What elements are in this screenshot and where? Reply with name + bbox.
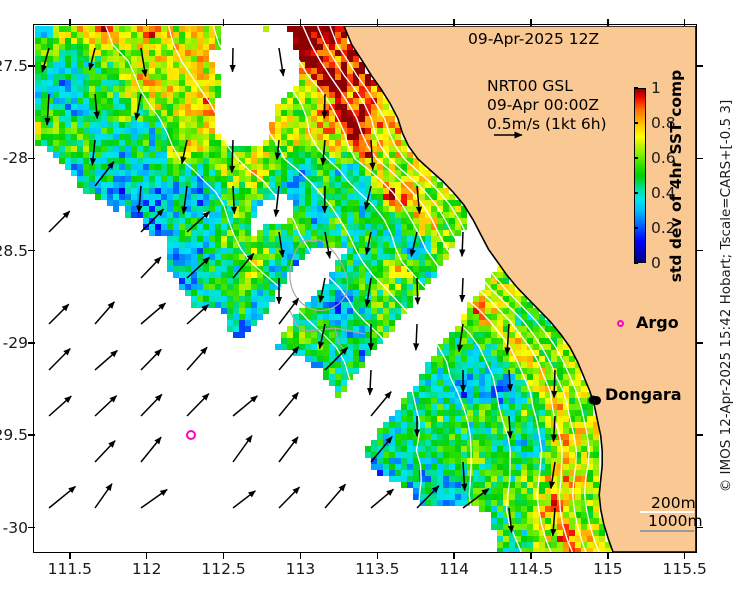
- y-tick-right-2: [696, 250, 703, 252]
- x-tick-1: [146, 552, 148, 559]
- colorbar-tick-label-0: 1: [651, 79, 661, 97]
- x-tick-2: [223, 552, 225, 559]
- x-tick-label-4: 113.5: [355, 560, 399, 578]
- y-tick-right-4: [696, 434, 703, 436]
- x-tick-top-6: [530, 19, 532, 26]
- x-tick-top-3: [300, 19, 302, 26]
- y-tick-3: [28, 342, 35, 344]
- y-tick-right-3: [696, 342, 703, 344]
- velocity-scale-arrow-icon: [492, 126, 532, 144]
- dongara-marker-icon: [592, 396, 601, 405]
- dongara-label: Dongara: [605, 385, 682, 404]
- x-tick-6: [530, 552, 532, 559]
- y-tick-2: [28, 250, 35, 252]
- x-tick-0: [69, 552, 71, 559]
- title-date-label: 09-Apr-2025 12Z: [468, 30, 599, 48]
- x-tick-top-4: [377, 19, 379, 26]
- x-tick-label-3: 113: [286, 560, 316, 578]
- x-tick-8: [684, 552, 686, 559]
- depth-1000m-line-sample: [640, 530, 694, 532]
- colorbar-tick-label-5: 0: [651, 254, 661, 272]
- colorbar-tick-5: [634, 262, 638, 264]
- colorbar-tick-3: [634, 192, 638, 194]
- y-tick-label-5: -30: [3, 519, 28, 537]
- argo-marker-icon: [617, 320, 624, 327]
- x-tick-top-2: [223, 19, 225, 26]
- x-tick-label-6: 114.5: [509, 560, 553, 578]
- colorbar-title: std dev of 4hr SST comp: [667, 70, 685, 283]
- y-tick-right-0: [696, 65, 703, 67]
- x-tick-label-0: 111.5: [48, 560, 92, 578]
- figure-canvas: 111.5112112.5113113.5114114.5115115.5 -2…: [0, 0, 740, 592]
- colorbar: [634, 88, 646, 263]
- x-tick-label-7: 115: [593, 560, 623, 578]
- y-tick-label-2: -28.5: [0, 242, 28, 260]
- depth-200m-label: 200m: [651, 494, 696, 512]
- y-tick-1: [28, 158, 35, 160]
- y-tick-5: [28, 527, 35, 529]
- x-tick-label-2: 112.5: [201, 560, 245, 578]
- x-tick-5: [453, 552, 455, 559]
- x-tick-label-8: 115.5: [663, 560, 707, 578]
- y-tick-0: [28, 65, 35, 67]
- colorbar-tick-4: [634, 227, 638, 229]
- colorbar-tick-1: [634, 122, 638, 124]
- colorbar-tick-0: [634, 87, 638, 89]
- product-line-0: NRT00 GSL: [487, 77, 573, 95]
- y-tick-right-1: [696, 158, 703, 160]
- x-tick-7: [607, 552, 609, 559]
- x-tick-3: [300, 552, 302, 559]
- product-line-1: 09-Apr 00:00Z: [487, 96, 599, 114]
- x-tick-top-1: [146, 19, 148, 26]
- y-tick-label-1: -28: [3, 149, 28, 167]
- x-tick-label-1: 112: [132, 560, 162, 578]
- y-tick-label-0: -27.5: [0, 57, 28, 75]
- x-tick-label-5: 114: [439, 560, 469, 578]
- x-tick-top-8: [684, 19, 686, 26]
- argo-label: Argo: [636, 313, 679, 332]
- credit-text: © IMOS 12-Apr-2025 15:42 Hobart; Tscale=…: [718, 100, 734, 493]
- x-tick-top-7: [607, 19, 609, 26]
- x-tick-4: [377, 552, 379, 559]
- colorbar-tick-2: [634, 157, 638, 159]
- x-tick-top-5: [453, 19, 455, 26]
- y-tick-label-4: -29.5: [0, 426, 28, 444]
- depth-1000m-label: 1000m: [648, 512, 703, 530]
- y-tick-4: [28, 434, 35, 436]
- x-tick-top-0: [69, 19, 71, 26]
- y-tick-label-3: -29: [3, 334, 28, 352]
